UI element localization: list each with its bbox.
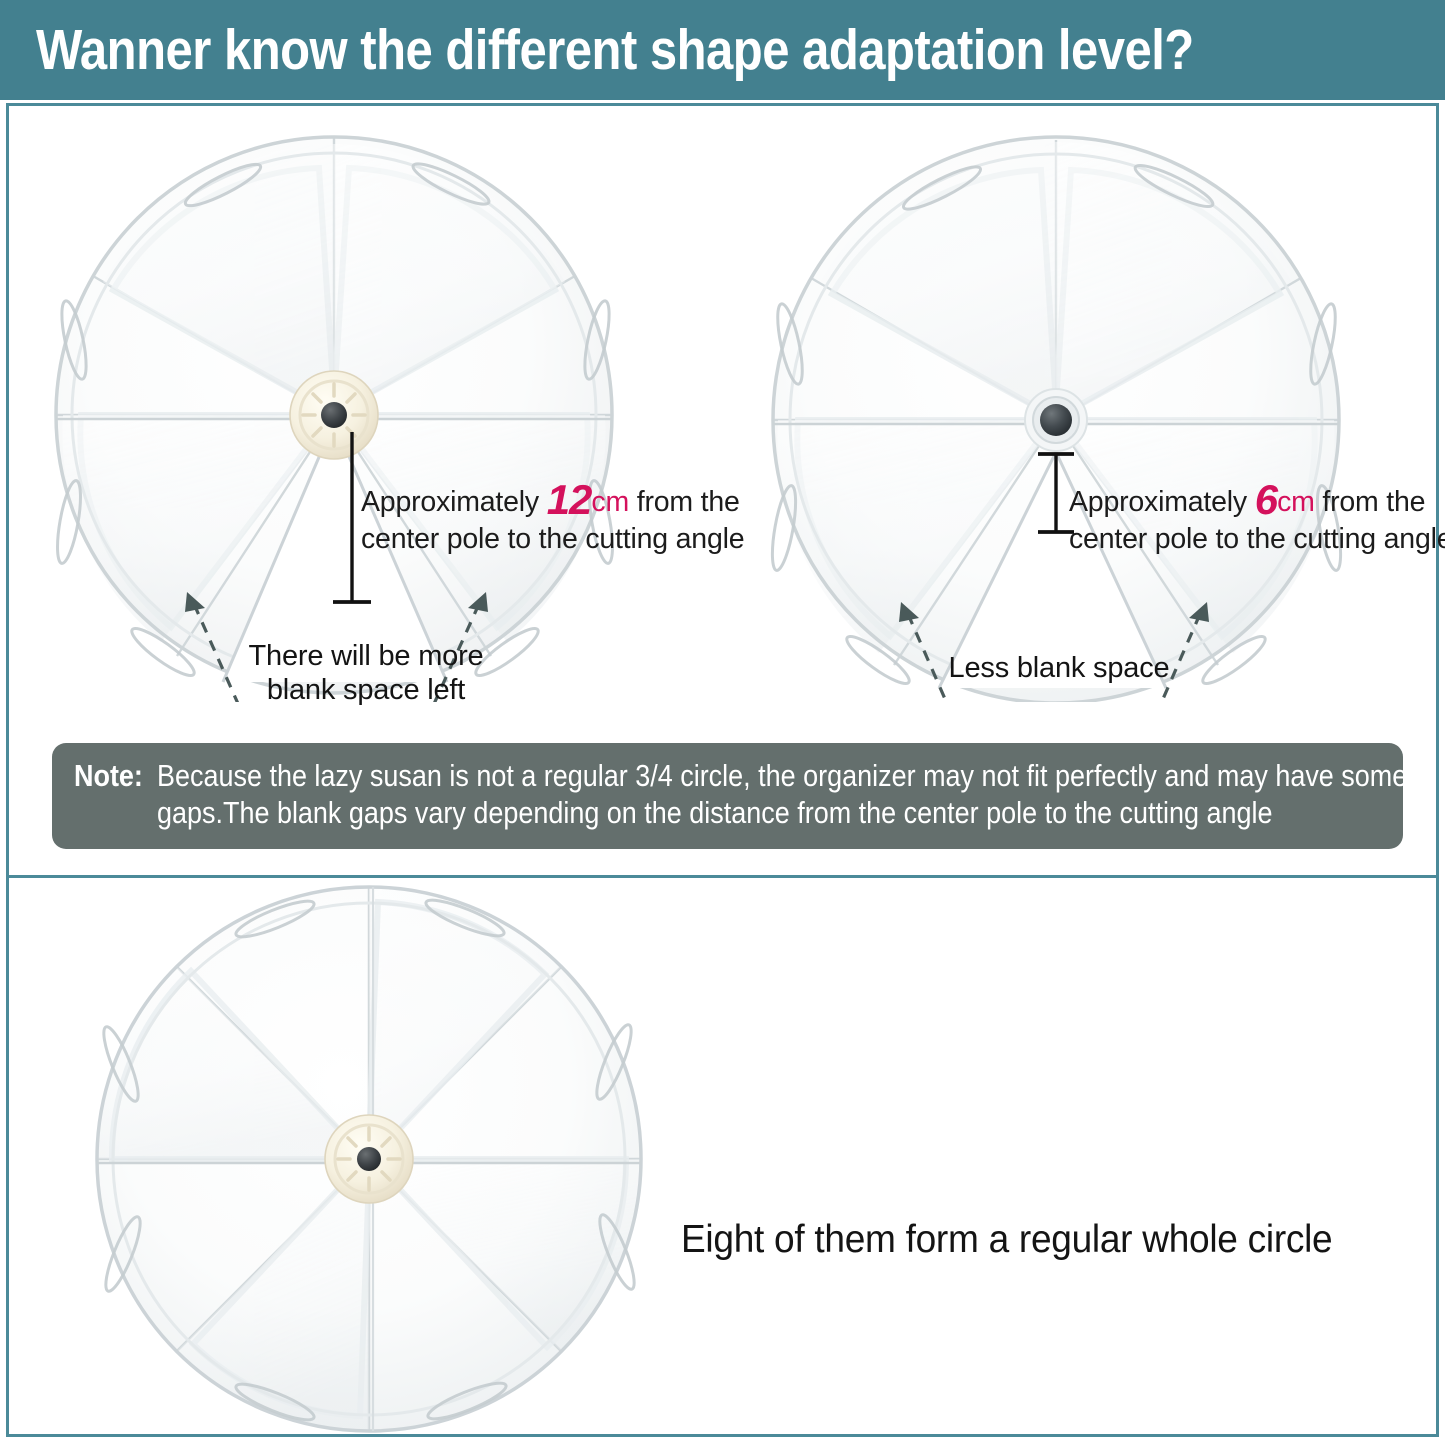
left-caption: There will be more blank space left <box>176 640 556 707</box>
left-dim-suffix: from the <box>629 486 740 518</box>
note-box: Note: Because the lazy susan is not a re… <box>52 743 1403 849</box>
note-label: Note: <box>74 757 143 794</box>
content-frame: Approximately 12cm from the center pole … <box>6 103 1439 1437</box>
left-dim-prefix: Approximately <box>361 486 547 518</box>
infographic-page: Wanner know the different shape adaptati… <box>0 0 1445 1443</box>
right-dimension-text: Approximately 6cm from the center pole t… <box>1069 476 1445 556</box>
right-caption: Less blank space <box>869 652 1249 686</box>
left-dimension-text: Approximately 12cm from the center pole … <box>361 476 744 556</box>
right-dim-suffix: from the <box>1315 486 1426 518</box>
header-banner: Wanner know the different shape adaptati… <box>0 0 1445 100</box>
top-panel: Approximately 12cm from the center pole … <box>9 106 1436 875</box>
note-body: Because the lazy susan is not a regular … <box>157 757 1445 831</box>
right-dim-value: 6 <box>1255 476 1277 523</box>
right-caption-line1: Less blank space <box>869 652 1249 686</box>
organizer-wide-notch-svg <box>27 122 657 702</box>
bottom-tagline: Eight of them form a regular whole circl… <box>681 1219 1332 1262</box>
left-dim-unit: cm <box>591 486 629 518</box>
left-dim-value: 12 <box>547 476 592 523</box>
bottom-product-image <box>69 874 669 1443</box>
left-product-image <box>27 122 657 702</box>
page-title: Wanner know the different shape adaptati… <box>36 22 1194 79</box>
bottom-panel: Eight of them form a regular whole circl… <box>9 878 1436 1437</box>
right-dim-unit: cm <box>1277 486 1315 518</box>
organizer-narrow-notch-svg <box>726 122 1386 702</box>
right-dim-line2: center pole to the cutting angle <box>1069 523 1445 555</box>
left-caption-line1: There will be more <box>176 640 556 674</box>
right-product-image <box>726 122 1386 702</box>
full-circle-organizer-svg <box>69 874 669 1443</box>
left-caption-line2: blank space left <box>176 674 556 708</box>
left-dim-line2: center pole to the cutting angle <box>361 523 744 555</box>
right-dim-prefix: Approximately <box>1069 486 1255 518</box>
